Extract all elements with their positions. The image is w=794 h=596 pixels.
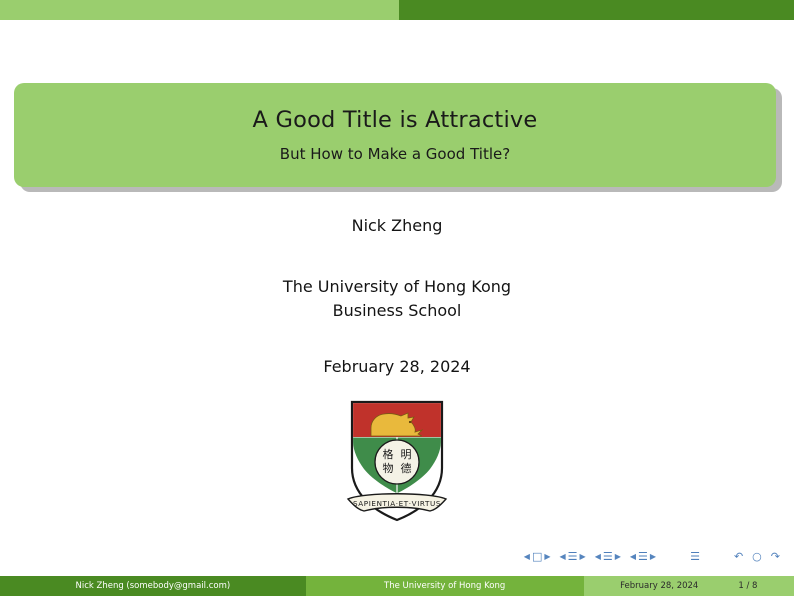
nav-section-group[interactable]: ◀ ☰ ▶	[560, 551, 586, 562]
triangle-right-icon[interactable]: ▶	[615, 553, 621, 561]
square-icon[interactable]: □	[532, 551, 542, 562]
page-title: A Good Title is Attractive	[253, 107, 538, 133]
triangle-right-icon[interactable]: ▶	[580, 553, 586, 561]
footer-author: Nick Zheng (somebody@gmail.com)	[0, 576, 306, 596]
doc-icon[interactable]: ☰	[603, 551, 613, 562]
beamer-navigation-bar[interactable]: ◀ □ ▶ ◀ ☰ ▶ ◀ ☰ ▶ ◀ ☰ ▶ ☰ ↶ ○ ↷	[524, 551, 780, 562]
beamer-title-slide: A Good Title is Attractive But How to Ma…	[0, 0, 794, 596]
nav-frame-group[interactable]: ◀ ☰ ▶	[630, 551, 656, 562]
slide-footer: Nick Zheng (somebody@gmail.com) The Univ…	[0, 576, 794, 596]
institute-block: The University of Hong Kong Business Sch…	[0, 275, 794, 323]
institute-line-2: Business School	[0, 299, 794, 323]
doc-icon[interactable]: ☰	[568, 551, 578, 562]
svg-text:德: 德	[401, 461, 412, 475]
svg-text:SAPIENTIA·ET·VIRTUS: SAPIENTIA·ET·VIRTUS	[353, 499, 441, 508]
triangle-left-icon[interactable]: ◀	[524, 553, 530, 561]
footer-date: February 28, 2024	[620, 581, 698, 591]
triangle-right-icon[interactable]: ▶	[650, 553, 656, 561]
top-decoration-bar	[0, 0, 794, 20]
footer-right: February 28, 2024 1 / 8	[584, 576, 794, 596]
doc-icon[interactable]: ☰	[638, 551, 648, 562]
triangle-left-icon[interactable]: ◀	[630, 553, 636, 561]
top-bar-light-segment	[0, 0, 399, 20]
back-icon[interactable]: ↶	[734, 551, 743, 562]
forward-icon[interactable]: ↷	[771, 551, 780, 562]
triangle-left-icon[interactable]: ◀	[560, 553, 566, 561]
document-icon[interactable]: ☰	[690, 551, 700, 562]
institute-line-1: The University of Hong Kong	[0, 275, 794, 299]
circle-icon[interactable]: ○	[752, 551, 762, 562]
nav-subsection-group[interactable]: ◀ ☰ ▶	[595, 551, 621, 562]
svg-text:明: 明	[401, 448, 412, 461]
svg-text:物: 物	[383, 461, 394, 475]
page-subtitle: But How to Make a Good Title?	[280, 145, 510, 163]
nav-first-slide-group[interactable]: ◀ □ ▶	[524, 551, 551, 562]
presentation-date: February 28, 2024	[0, 357, 794, 376]
title-metadata: Nick Zheng The University of Hong Kong B…	[0, 215, 794, 376]
logo-container: 格 明 物 德 SAPIENTIA·ET·VIRTUS	[0, 396, 794, 526]
triangle-right-icon[interactable]: ▶	[544, 553, 550, 561]
footer-page-number: 1 / 8	[738, 581, 757, 591]
triangle-left-icon[interactable]: ◀	[595, 553, 601, 561]
author-name: Nick Zheng	[0, 215, 794, 237]
title-box: A Good Title is Attractive But How to Ma…	[14, 83, 776, 187]
svg-text:格: 格	[383, 447, 394, 461]
hku-crest-icon: 格 明 物 德 SAPIENTIA·ET·VIRTUS	[338, 396, 456, 526]
footer-institute: The University of Hong Kong	[306, 576, 584, 596]
top-bar-dark-segment	[399, 0, 794, 20]
